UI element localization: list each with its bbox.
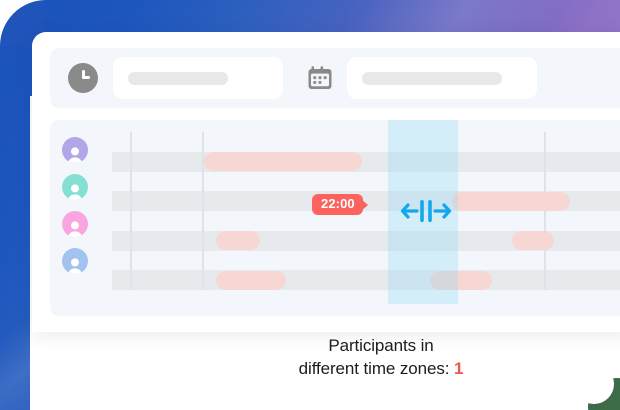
avatar[interactable] [62, 211, 88, 237]
header-panel [50, 48, 620, 108]
person-icon [62, 253, 88, 274]
caption: Participants in different time zones: 1 [236, 334, 526, 380]
caption-line-1: Participants in [328, 336, 433, 355]
person-icon [62, 142, 88, 163]
app-card: 22:00 [32, 32, 620, 332]
time-marker-badge: 22:00 [312, 194, 363, 215]
timeline-gridline [202, 132, 204, 290]
person-icon [62, 216, 88, 237]
date-field-value [362, 72, 502, 85]
person-icon [62, 179, 88, 200]
time-marker-label: 22:00 [321, 196, 355, 211]
timeline-panel: 22:00 [50, 120, 620, 316]
clock-icon [68, 63, 98, 93]
avatar[interactable] [62, 248, 88, 274]
busy-bar [452, 192, 570, 211]
timeline-gridline [544, 132, 546, 290]
participant-avatar-list [62, 137, 102, 274]
corner-accent-shape [586, 376, 620, 410]
avatar[interactable] [62, 174, 88, 200]
timeline-gridline [130, 132, 132, 290]
avatar[interactable] [62, 137, 88, 163]
calendar-icon [307, 65, 333, 91]
busy-bar [216, 271, 286, 290]
timezone-count: 1 [454, 359, 463, 378]
caption-line-2: different time zones: [299, 359, 450, 378]
resize-horizontal-icon[interactable] [397, 196, 455, 226]
timezone-field-value [128, 72, 228, 85]
screenshot-stage: 22:00 Participants in different time zon… [0, 0, 620, 410]
date-field[interactable] [347, 57, 537, 99]
timezone-field[interactable] [113, 57, 283, 99]
busy-bar [216, 231, 260, 250]
busy-bar [512, 231, 554, 250]
timeline-grid[interactable]: 22:00 [112, 132, 620, 290]
busy-bar [204, 152, 362, 171]
